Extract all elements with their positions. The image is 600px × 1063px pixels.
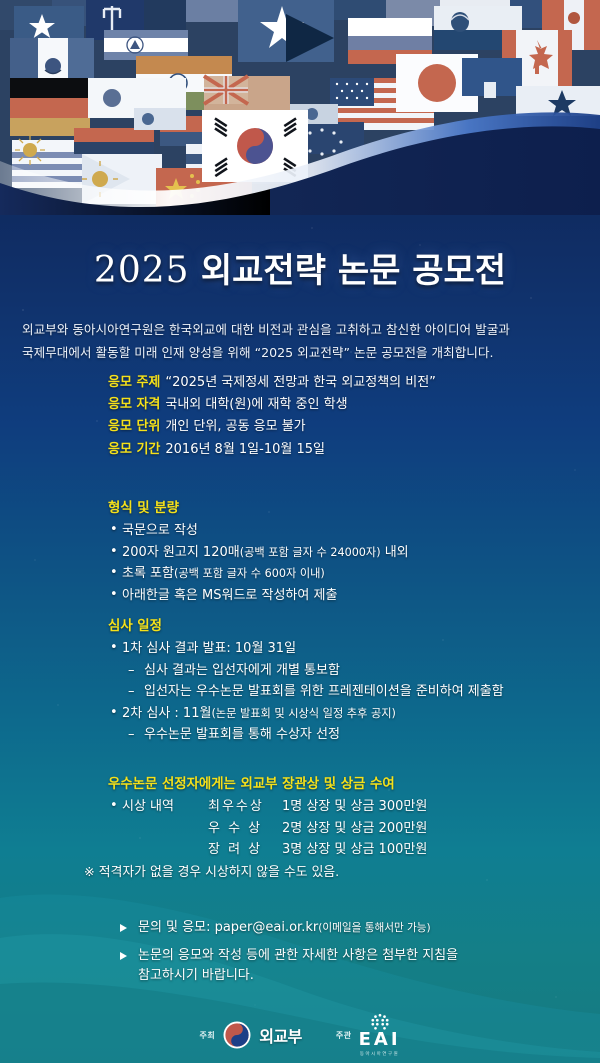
- title-main: 외교전략 논문 공모전: [201, 251, 506, 291]
- entry-info-row: 응모 기간2016년 8월 1일-10월 15일: [108, 439, 578, 461]
- host-role-label: 주최: [199, 1030, 215, 1041]
- page-title: 2025 외교전략 논문 공모전: [0, 243, 600, 292]
- footer-logos: 주최 외교부 주관: [0, 1012, 600, 1058]
- review-subitem-text: 입선자는 우수논문 발표회를 위한 프레젠테이션을 준비하여 제출함: [144, 684, 504, 699]
- list-item: 2차 심사 : 11월(논문 발표회 및 시상식 일정 추후 공지): [108, 703, 586, 725]
- list-item: 아래한글 혹은 MS워드로 작성하여 제출: [108, 585, 586, 607]
- format-item-tail: 내외: [381, 545, 409, 560]
- contact-email-text[interactable]: 문의 및 응모: paper@eai.or.kr: [138, 920, 318, 935]
- review-subitem-text: 우수논문 발표회를 통해 수상자 선정: [144, 727, 340, 742]
- list-item: 1차 심사 결과 발표: 10월 31일: [108, 638, 586, 660]
- entry-info-row: 응모 주제“2025년 국제정세 전망과 한국 외교정책의 비전”: [108, 372, 578, 394]
- contact-email-note: (이메일을 통해서만 가능): [318, 922, 430, 934]
- host-name: 외교부: [259, 1023, 302, 1047]
- format-item-text: 아래한글 혹은 MS워드로 작성하여 제출: [122, 588, 337, 603]
- intro-line-2: 국제무대에서 활동할 미래 인재 양성을 위해 “2025 외교전략” 논문 공…: [22, 341, 580, 364]
- section-award-heading: 우수논문 선정자에게는 외교부 장관상 및 상금 수여: [108, 772, 600, 792]
- entry-info-row: 응모 자격국내외 대학(원)에 재학 중인 학생: [108, 394, 578, 416]
- format-item-note: (공백 포함 글자 수 24000자): [240, 546, 381, 559]
- entry-info-row: 응모 단위개인 단위, 공동 응모 불가: [108, 416, 578, 438]
- entry-info-value: “2025년 국제정세 전망과 한국 외교정책의 비전”: [165, 375, 436, 390]
- organizer-subtitle: 동아시아연구원: [360, 1051, 399, 1057]
- organizer-name: EAI: [359, 1031, 401, 1049]
- entry-info-label: 응모 주제: [108, 375, 160, 390]
- review-item-note: (논문 발표회 및 시상식 일정 추후 공지): [211, 707, 395, 720]
- organizer-logo-group: 주관 EAI 동아시아연구원: [336, 1013, 401, 1057]
- award-row: 시상 내역최우수상1명 상장 및 상금 300만원: [122, 799, 427, 814]
- entry-info-label: 응모 자격: [108, 397, 160, 412]
- award-prize: 우 수 상: [208, 818, 282, 840]
- guideline-text-cont: 참고하시기 바랍니다.: [138, 968, 254, 983]
- section-format: 형식 및 분량 국문으로 작성 200자 원고지 120매(공백 포함 글자 수…: [108, 496, 586, 606]
- title-year: 2025: [94, 250, 190, 291]
- award-row: 우 수 상2명 상장 및 상금 200만원: [108, 818, 600, 840]
- poster-root: 2025 외교전략 논문 공모전 외교부와 동아시아연구원은 한국외교에 대한 …: [0, 0, 600, 1063]
- contact-line-guideline: 논문의 응모와 작성 등에 관한 자세한 사항은 첨부한 지침을 참고하시기 바…: [120, 946, 590, 987]
- award-detail: 3명 상장 및 상금 100만원: [282, 842, 427, 857]
- entry-info-value: 2016년 8월 1일-10월 15일: [165, 442, 325, 457]
- mofa-taegeuk-icon: [222, 1020, 252, 1050]
- award-row: 장 려 상3명 상장 및 상금 100만원: [108, 839, 600, 861]
- entry-info-label: 응모 단위: [108, 419, 160, 434]
- eai-logo: EAI 동아시아연구원: [359, 1013, 401, 1057]
- list-item: 200자 원고지 120매(공백 포함 글자 수 24000자) 내외: [108, 542, 586, 564]
- format-item-text: 국문으로 작성: [122, 523, 198, 538]
- sub-list-item: 심사 결과는 입선자에게 개별 통보함: [108, 660, 586, 682]
- list-item: 초록 포함(공백 포함 글자 수 600자 이내): [108, 563, 586, 585]
- review-item-text: 1차 심사 결과 발표: 10월 31일: [122, 641, 296, 656]
- contact-section: 문의 및 응모: paper@eai.or.kr(이메일을 통해서만 가능) 논…: [120, 918, 590, 994]
- sub-list-item: 입선자는 우수논문 발표회를 위한 프레젠테이션을 준비하여 제출함: [108, 681, 586, 703]
- section-award: 우수논문 선정자에게는 외교부 장관상 및 상금 수여 시상 내역최우수상1명 …: [108, 772, 600, 883]
- award-prize: 장 려 상: [208, 839, 282, 861]
- award-list-label: 시상 내역: [122, 796, 208, 818]
- entry-info-value: 국내외 대학(원)에 재학 중인 학생: [165, 397, 347, 412]
- entry-info-value: 개인 단위, 공동 응모 불가: [165, 419, 305, 434]
- review-item-text: 2차 심사 : 11월: [122, 706, 211, 721]
- award-detail: 1명 상장 및 상금 300만원: [282, 799, 427, 814]
- award-detail: 2명 상장 및 상금 200만원: [282, 821, 427, 836]
- host-logo-group: 주최 외교부: [199, 1020, 301, 1050]
- sub-list-item: 우수논문 발표회를 통해 수상자 선정: [108, 724, 586, 746]
- intro-line-1: 외교부와 동아시아연구원은 한국외교에 대한 비전과 관심을 고취하고 참신한 …: [22, 318, 580, 341]
- section-review-heading: 심사 일정: [108, 614, 586, 634]
- poster-content: 2025 외교전략 논문 공모전 외교부와 동아시아연구원은 한국외교에 대한 …: [0, 0, 600, 1063]
- section-format-heading: 형식 및 분량: [108, 496, 586, 516]
- entry-info-label: 응모 기간: [108, 442, 160, 457]
- award-row-first: 시상 내역최우수상1명 상장 및 상금 300만원: [108, 796, 600, 818]
- review-subitem-text: 심사 결과는 입선자에게 개별 통보함: [144, 663, 340, 678]
- format-item-text: 200자 원고지 120매: [122, 545, 240, 560]
- section-review: 심사 일정 1차 심사 결과 발표: 10월 31일 심사 결과는 입선자에게 …: [108, 614, 586, 746]
- format-item-text: 초록 포함: [122, 566, 174, 581]
- intro-paragraph: 외교부와 동아시아연구원은 한국외교에 대한 비전과 관심을 고취하고 참신한 …: [22, 318, 580, 365]
- award-note: ※ 적격자가 없을 경우 시상하지 않을 수도 있음.: [84, 863, 600, 883]
- contact-line-email: 문의 및 응모: paper@eai.or.kr(이메일을 통해서만 가능): [120, 918, 590, 939]
- format-item-note: (공백 포함 글자 수 600자 이내): [174, 567, 325, 580]
- list-item: 국문으로 작성: [108, 520, 586, 542]
- award-prize: 최우수상: [208, 796, 282, 818]
- organizer-role-label: 주관: [336, 1030, 352, 1041]
- guideline-text: 논문의 응모와 작성 등에 관한 자세한 사항은 첨부한 지침을: [138, 948, 458, 963]
- entry-info-block: 응모 주제“2025년 국제정세 전망과 한국 외교정책의 비전” 응모 자격국…: [108, 372, 578, 461]
